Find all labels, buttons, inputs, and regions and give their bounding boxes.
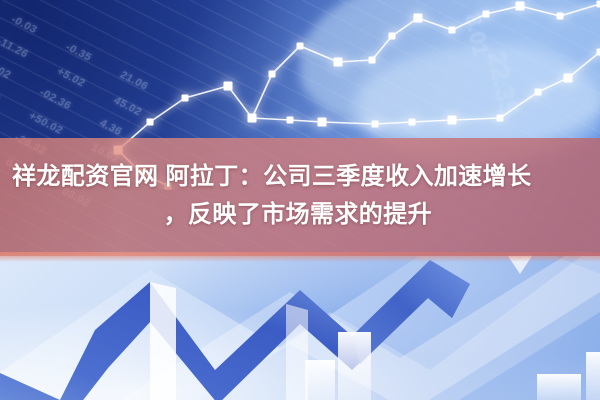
page-title: 祥龙配资官网 阿拉丁：公司三季度收入加速增长 ，反映了市场需求的提升	[0, 158, 600, 234]
lower-graphic-panel	[0, 252, 600, 400]
chart-node	[269, 71, 276, 78]
chart-node	[557, 13, 564, 20]
chart-node	[564, 74, 573, 83]
chart-node	[449, 27, 456, 34]
chart-line-upper-trend	[252, 4, 600, 118]
white-wedge	[150, 282, 176, 400]
chart-node	[248, 114, 257, 123]
chart-bar	[338, 332, 371, 400]
chart-node	[369, 57, 376, 64]
chart-node	[297, 43, 304, 50]
chart-bar	[537, 374, 581, 400]
chart-node	[318, 118, 327, 127]
arrow-ribbon-chart	[0, 252, 600, 400]
chart-node	[287, 117, 294, 124]
chart-node	[389, 33, 396, 40]
chart-node	[483, 11, 490, 18]
chart-node	[516, 2, 525, 11]
chart-bar	[305, 360, 335, 400]
white-wedge-2	[286, 304, 308, 400]
chart-bar	[586, 352, 600, 400]
chart-node	[497, 115, 504, 122]
chart-node	[597, 1, 600, 8]
chart-node	[409, 119, 416, 126]
chart-node	[597, 49, 600, 56]
chart-node	[372, 121, 379, 128]
title-line-1: 祥龙配资官网 阿拉丁：公司三季度收入加速增长	[12, 158, 588, 196]
chart-node	[414, 14, 423, 23]
chart-node	[535, 89, 542, 96]
banner-image: -0.052.26-0.03-0.3521.06-1.254.26-11.26+…	[0, 0, 600, 400]
title-line-2: ，反映了市场需求的提升	[12, 196, 588, 234]
chart-line-main-trend	[118, 52, 600, 150]
chart-node	[334, 58, 343, 67]
chart-node	[182, 95, 189, 102]
chart-node	[448, 116, 457, 125]
chart-node	[224, 82, 233, 91]
chart-node	[147, 119, 154, 126]
